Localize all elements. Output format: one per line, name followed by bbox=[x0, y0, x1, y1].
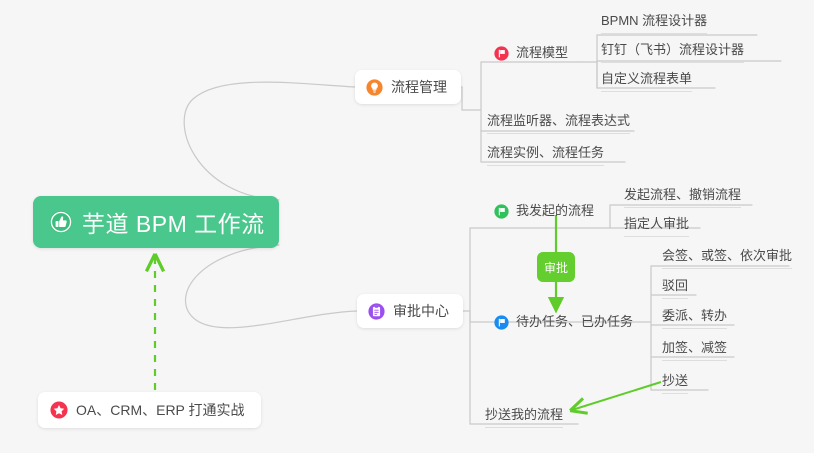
node-start-cancel-process[interactable]: 发起流程、撤销流程 bbox=[624, 187, 741, 208]
node-label-delegate-transfer: 委派、转办 bbox=[662, 308, 727, 323]
approval-pill-label: 审批 bbox=[544, 259, 568, 276]
node-label-cc-to-me-process: 抄送我的流程 bbox=[485, 407, 563, 422]
node-delegate-transfer[interactable]: 委派、转办 bbox=[662, 308, 727, 329]
node-label-reject: 驳回 bbox=[662, 278, 688, 293]
node-label-todo-done-tasks: 待办任务、已办任务 bbox=[516, 314, 633, 330]
branch-node-approval-center[interactable]: 审批中心 bbox=[357, 294, 463, 328]
approval-pill[interactable]: 审批 bbox=[537, 252, 575, 282]
node-bpmn-designer[interactable]: BPMN 流程设计器 bbox=[601, 13, 707, 34]
node-label-my-initiated-process: 我发起的流程 bbox=[516, 203, 594, 219]
node-label-add-remove-sign: 加签、减签 bbox=[662, 340, 727, 355]
integration-note-node[interactable]: OA、CRM、ERP 打通实战 bbox=[38, 392, 261, 428]
node-assignee-approval[interactable]: 指定人审批 bbox=[624, 216, 689, 237]
thumbs-up-circle-icon bbox=[49, 210, 73, 234]
mindmap-canvas: 芋道 BPM 工作流 流程管理 流程模型 BPMN 流程设计器 钉钉（飞书 bbox=[0, 0, 814, 453]
node-label-cc: 抄送 bbox=[662, 373, 688, 388]
node-instance-task[interactable]: 流程实例、流程任务 bbox=[487, 145, 604, 166]
node-label-custom-process-form: 自定义流程表单 bbox=[601, 71, 692, 86]
star-circle-icon bbox=[50, 401, 68, 419]
node-label-dingtalk-feishu-designer: 钉钉（飞书）流程设计器 bbox=[601, 42, 744, 57]
branch-label-process-management: 流程管理 bbox=[391, 77, 447, 97]
node-my-initiated-process[interactable]: 我发起的流程 bbox=[494, 203, 594, 223]
node-custom-process-form[interactable]: 自定义流程表单 bbox=[601, 71, 692, 92]
integration-note-label: OA、CRM、ERP 打通实战 bbox=[76, 400, 245, 420]
node-label-assignee-approval: 指定人审批 bbox=[624, 216, 689, 231]
node-multi-sign[interactable]: 会签、或签、依次审批 bbox=[662, 248, 792, 269]
node-cc-to-me-process[interactable]: 抄送我的流程 bbox=[485, 407, 563, 428]
node-label-start-cancel-process: 发起流程、撤销流程 bbox=[624, 187, 741, 202]
node-cc[interactable]: 抄送 bbox=[662, 373, 688, 394]
node-todo-done-tasks[interactable]: 待办任务、已办任务 bbox=[494, 314, 633, 334]
root-label: 芋道 BPM 工作流 bbox=[82, 205, 265, 239]
branch-label-approval-center: 审批中心 bbox=[393, 301, 449, 321]
node-label-instance-task: 流程实例、流程任务 bbox=[487, 145, 604, 160]
node-add-remove-sign[interactable]: 加签、减签 bbox=[662, 340, 727, 361]
lightbulb-icon bbox=[366, 79, 383, 96]
flag-circle-blue-icon bbox=[494, 315, 509, 330]
node-label-multi-sign: 会签、或签、依次审批 bbox=[662, 248, 792, 263]
node-label-process-model: 流程模型 bbox=[516, 45, 568, 61]
cc-relation-arrow bbox=[572, 382, 661, 410]
node-dingtalk-feishu-designer[interactable]: 钉钉（飞书）流程设计器 bbox=[601, 42, 744, 63]
flag-circle-green-icon bbox=[494, 204, 509, 219]
flag-circle-red-icon bbox=[494, 46, 509, 61]
node-label-listener-expression: 流程监听器、流程表达式 bbox=[487, 113, 630, 128]
root-node[interactable]: 芋道 BPM 工作流 bbox=[33, 196, 279, 248]
node-reject[interactable]: 驳回 bbox=[662, 278, 688, 299]
node-listener-expression[interactable]: 流程监听器、流程表达式 bbox=[487, 113, 630, 134]
clipboard-icon bbox=[368, 303, 385, 320]
branch-node-process-management[interactable]: 流程管理 bbox=[355, 70, 461, 104]
node-label-bpmn-designer: BPMN 流程设计器 bbox=[601, 13, 707, 28]
node-process-model[interactable]: 流程模型 bbox=[494, 45, 568, 65]
